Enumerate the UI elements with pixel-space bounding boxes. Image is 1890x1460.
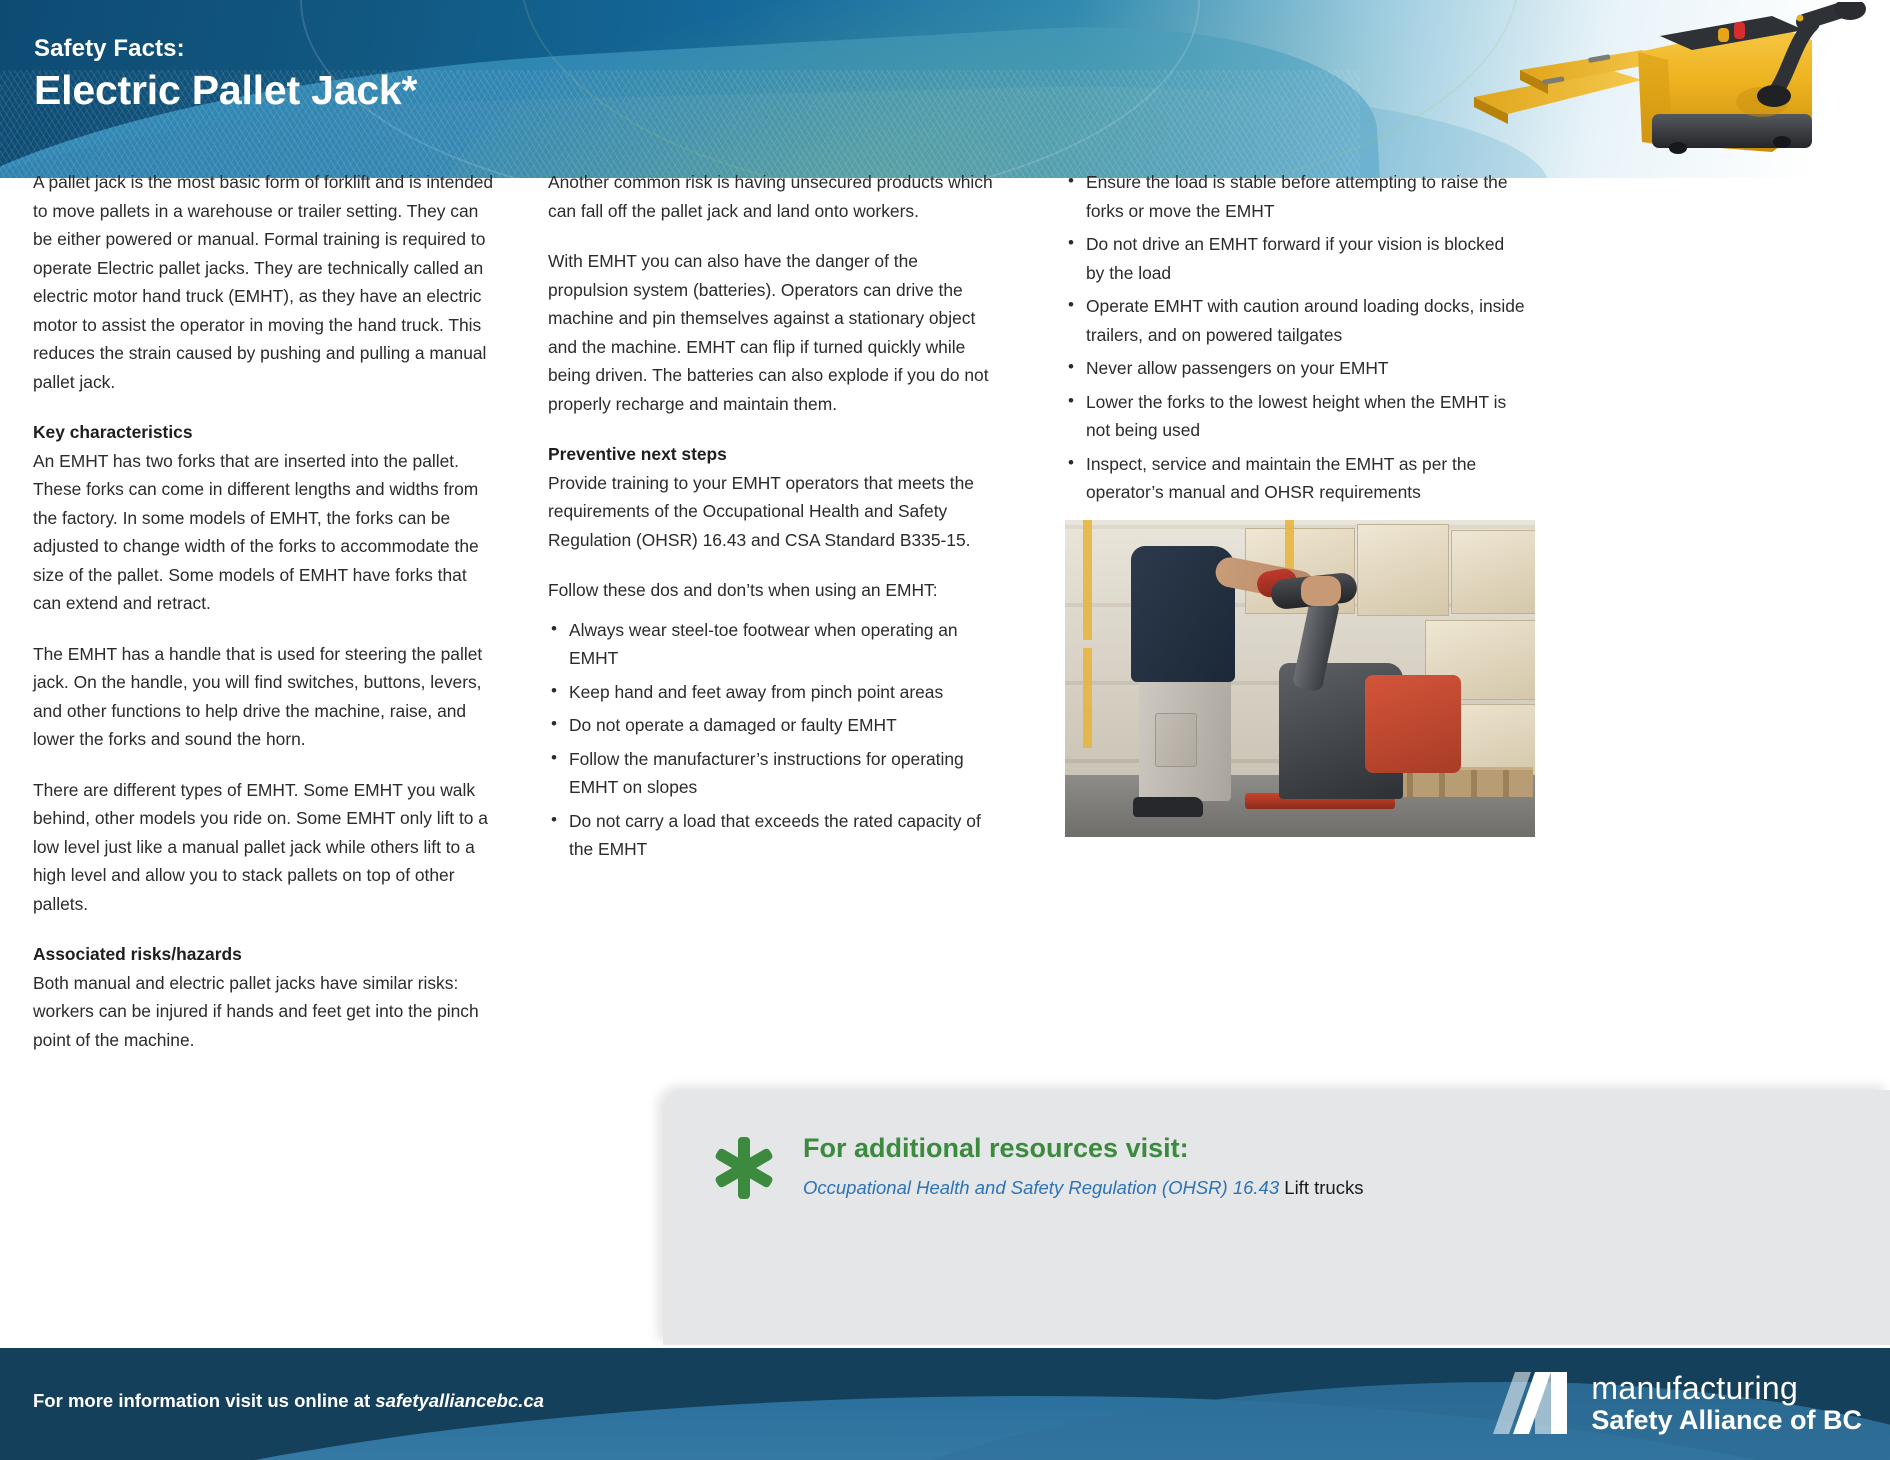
column-2: Another common risk is having unsecured … xyxy=(548,168,996,869)
associated-risks-heading: Associated risks/hazards xyxy=(33,940,495,969)
list-item: Lower the forks to the lowest height whe… xyxy=(1065,388,1525,445)
footer-bar: For more information visit us online at … xyxy=(0,1348,1890,1460)
asterisk-icon xyxy=(713,1135,775,1201)
unsecured-products-paragraph: Another common risk is having unsecured … xyxy=(548,168,996,225)
list-item: Never allow passengers on your EMHT xyxy=(1065,354,1525,383)
organization-logo: manufacturing Safety Alliance of BC xyxy=(1491,1370,1862,1436)
safety-facts-document: Safety Facts: Electric Pallet Jack* xyxy=(0,0,1890,1460)
column-1: A pallet jack is the most basic form of … xyxy=(33,168,495,1054)
list-item: Follow the manufacturer’s instructions f… xyxy=(548,745,996,802)
column-3: Ensure the load is stable before attempt… xyxy=(1065,168,1525,512)
dos-and-donts-list: Always wear steel-toe footwear when oper… xyxy=(548,616,996,864)
electric-pallet-jack-illustration xyxy=(1342,2,1882,178)
associated-risks-body: Both manual and electric pallet jacks ha… xyxy=(33,969,495,1055)
follow-dos-donts-line: Follow these dos and don’ts when using a… xyxy=(548,576,996,605)
intro-paragraph: A pallet jack is the most basic form of … xyxy=(33,168,495,396)
photo-box-tape xyxy=(1083,520,1092,640)
preventive-next-steps-heading: Preventive next steps xyxy=(548,440,996,469)
list-item: Inspect, service and maintain the EMHT a… xyxy=(1065,450,1525,507)
list-item: Always wear steel-toe footwear when oper… xyxy=(548,616,996,673)
resources-heading: For additional resources visit: xyxy=(803,1132,1363,1164)
photo-box-tape xyxy=(1083,648,1092,748)
photo-jack-cover xyxy=(1365,675,1461,773)
page-title: Electric Pallet Jack* xyxy=(34,68,417,114)
propulsion-danger-paragraph: With EMHT you can also have the danger o… xyxy=(548,247,996,418)
list-item: Do not drive an EMHT forward if your vis… xyxy=(1065,230,1525,287)
photo-worker-hand xyxy=(1301,576,1341,606)
ohsr-link[interactable]: Occupational Health and Safety Regulatio… xyxy=(803,1177,1279,1198)
additional-resources-panel: For additional resources visit: Occupati… xyxy=(663,1090,1890,1345)
header-title-block: Safety Facts: Electric Pallet Jack* xyxy=(34,36,417,114)
photo-carton xyxy=(1357,524,1449,616)
handle-paragraph: The EMHT has a handle that is used for s… xyxy=(33,640,495,754)
warehouse-worker-with-electric-pallet-jack-photo xyxy=(1065,520,1535,837)
list-item: Do not operate a damaged or faulty EMHT xyxy=(548,711,996,740)
header-kicker: Safety Facts: xyxy=(34,36,417,62)
resources-text-block: For additional resources visit: Occupati… xyxy=(803,1132,1363,1200)
list-item: Operate EMHT with caution around loading… xyxy=(1065,292,1525,349)
footer-info-prefix: For more information visit us online at xyxy=(33,1390,375,1411)
photo-carton xyxy=(1451,530,1535,614)
photo-worker-shoe xyxy=(1133,797,1203,817)
photo-box-tape xyxy=(1285,520,1294,570)
types-paragraph: There are different types of EMHT. Some … xyxy=(33,776,495,919)
logo-line-safety-alliance: Safety Alliance of BC xyxy=(1591,1407,1862,1434)
logo-line-manufacturing: manufacturing xyxy=(1591,1372,1862,1404)
resources-link-line: Occupational Health and Safety Regulatio… xyxy=(803,1176,1363,1200)
footer-website-url[interactable]: safetyalliancebc.ca xyxy=(375,1390,544,1411)
list-item: Keep hand and feet away from pinch point… xyxy=(548,678,996,707)
list-item: Do not carry a load that exceeds the rat… xyxy=(548,807,996,864)
header-banner: Safety Facts: Electric Pallet Jack* xyxy=(0,0,1890,178)
footer-info-text: For more information visit us online at … xyxy=(33,1390,544,1412)
key-characteristics-body: An EMHT has two forks that are inserted … xyxy=(33,447,495,618)
key-characteristics-heading: Key characteristics xyxy=(33,418,495,447)
msabc-m-logo-icon xyxy=(1491,1370,1577,1436)
preventive-next-steps-body: Provide training to your EMHT operators … xyxy=(548,469,996,555)
photo-worker-pocket xyxy=(1155,713,1197,767)
safe-operation-list: Ensure the load is stable before attempt… xyxy=(1065,168,1525,507)
ohsr-link-suffix: Lift trucks xyxy=(1279,1177,1363,1198)
logo-wordmark: manufacturing Safety Alliance of BC xyxy=(1591,1372,1862,1434)
